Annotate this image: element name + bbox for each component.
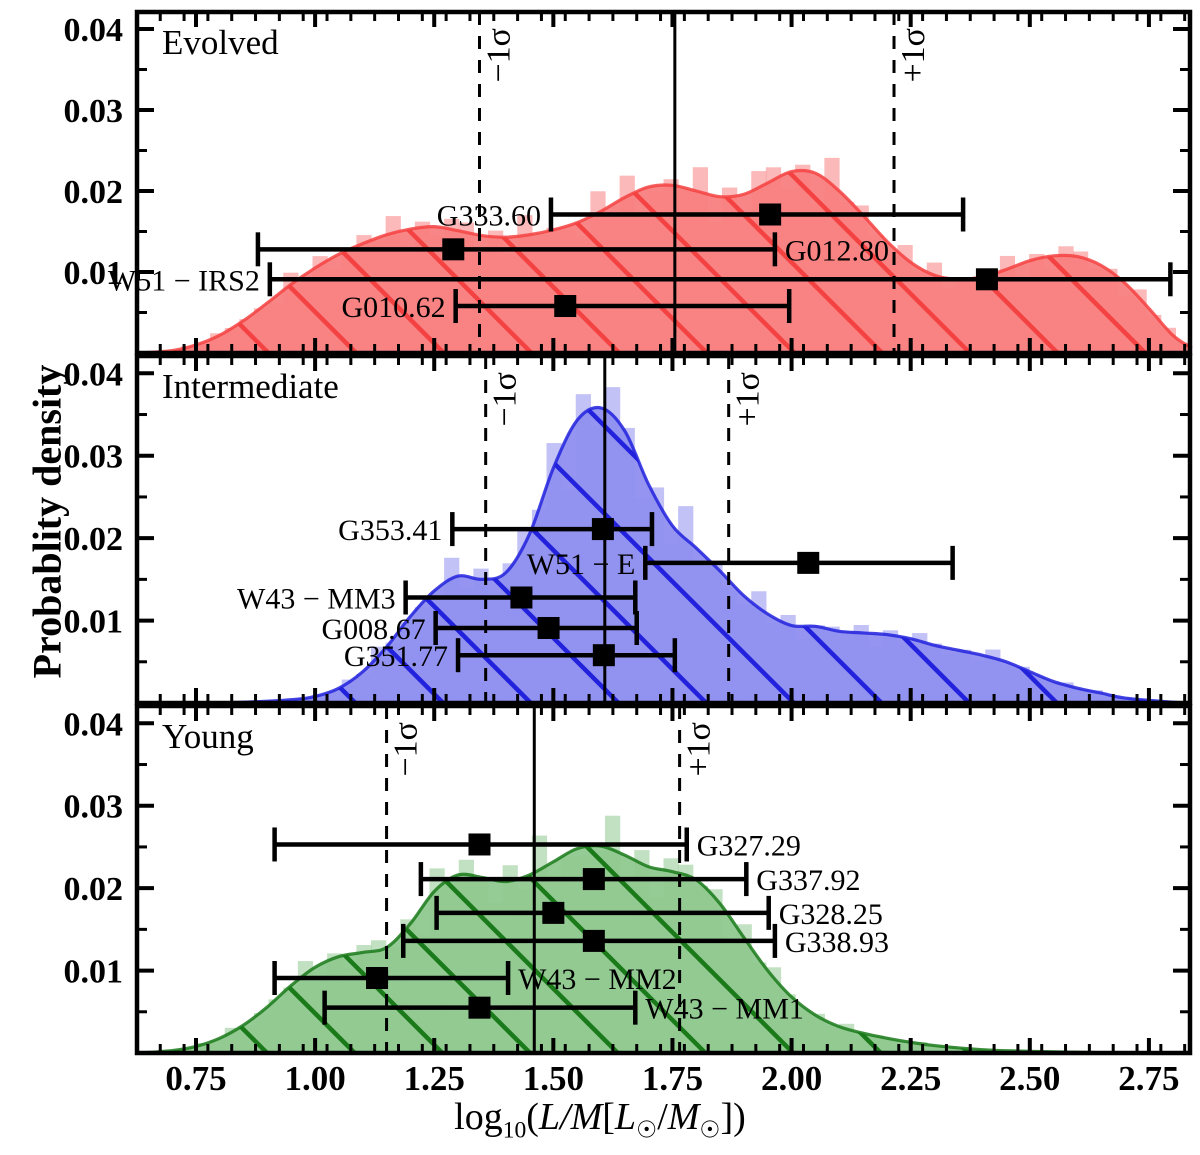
sigma-minus-label: −1σ <box>487 372 524 427</box>
x-tick-label: 1.75 <box>642 1059 703 1098</box>
y-tick-label: 0.02 <box>64 871 124 908</box>
x-tick-label: 1.00 <box>284 1059 345 1098</box>
x-tick-label: 0.75 <box>165 1059 226 1098</box>
source-marker <box>442 238 464 260</box>
source-label: W43 − MM3 <box>237 582 396 615</box>
source-marker <box>468 833 490 855</box>
y-tick-label: 0.04 <box>64 706 124 743</box>
source-label: G012.80 <box>785 234 889 267</box>
x-tick-label: 2.00 <box>761 1059 822 1098</box>
y-tick-label: 0.01 <box>64 604 124 641</box>
source-marker <box>592 518 614 540</box>
source-label: G338.93 <box>785 926 889 959</box>
y-tick-label: 0.01 <box>64 954 124 991</box>
source-label: G327.29 <box>697 829 801 862</box>
source-label: G010.62 <box>341 291 445 324</box>
source-marker <box>583 868 605 890</box>
source-marker <box>366 967 388 989</box>
panel-title: Evolved <box>162 23 279 62</box>
sigma-plus-label: +1σ <box>895 28 932 83</box>
source-label: W51 − IRS2 <box>108 264 260 297</box>
source-marker <box>976 268 998 290</box>
source-marker <box>759 203 781 225</box>
panel-title: Young <box>162 717 254 756</box>
source-marker <box>583 930 605 952</box>
distribution-figure: −1σ+1σEvolvedG333.60W51 − IRS2G012.80G01… <box>0 0 1200 1155</box>
y-tick-label: 0.02 <box>64 521 124 558</box>
y-tick-label: 0.01 <box>64 255 124 292</box>
x-axis-label: log10(L/M[L☉/M☉]) <box>0 1095 1200 1145</box>
x-tick-label: 2.50 <box>999 1059 1060 1098</box>
source-marker <box>510 586 532 608</box>
source-marker <box>468 997 490 1019</box>
y-tick-label: 0.02 <box>64 174 124 211</box>
y-tick-label: 0.04 <box>64 12 124 49</box>
x-tick-label: 1.50 <box>523 1059 584 1098</box>
source-label: G351.77 <box>344 640 448 673</box>
x-tick-label: 2.25 <box>880 1059 941 1098</box>
sigma-minus-label: −1σ <box>388 722 425 777</box>
sigma-plus-label: +1σ <box>730 372 767 427</box>
y-tick-label: 0.03 <box>64 93 124 130</box>
sigma-plus-label: +1σ <box>681 722 718 777</box>
source-marker <box>554 295 576 317</box>
y-tick-label: 0.04 <box>64 356 124 393</box>
source-marker <box>593 644 615 666</box>
y-tick-label: 0.03 <box>64 789 124 826</box>
source-label: W43 − MM1 <box>645 993 804 1026</box>
source-label: G337.92 <box>756 864 860 897</box>
source-marker <box>538 617 560 639</box>
y-axis-label: Probablity density <box>24 242 71 802</box>
source-label: G353.41 <box>338 514 442 547</box>
source-label: W51 − E <box>527 548 636 581</box>
panel-evolved: −1σ+1σEvolvedG333.60W51 − IRS2G012.80G01… <box>64 12 1192 353</box>
source-label: G333.60 <box>437 199 541 232</box>
source-marker <box>797 552 819 574</box>
source-marker <box>542 902 564 924</box>
panel-intermediate: −1σ+1σIntermediateG353.41W51 − EW43 − MM… <box>64 356 1192 703</box>
panel-young: −1σ+1σYoungG327.29G337.92G328.25G338.93W… <box>64 706 1192 1053</box>
panel-title: Intermediate <box>162 367 339 406</box>
figure-root: −1σ+1σEvolvedG333.60W51 − IRS2G012.80G01… <box>0 0 1200 1155</box>
sigma-minus-label: −1σ <box>480 28 517 83</box>
x-tick-label: 1.25 <box>404 1059 465 1098</box>
x-tick-label: 2.75 <box>1118 1059 1179 1098</box>
y-tick-label: 0.03 <box>64 439 124 476</box>
source-label: W43 − MM2 <box>518 963 677 996</box>
